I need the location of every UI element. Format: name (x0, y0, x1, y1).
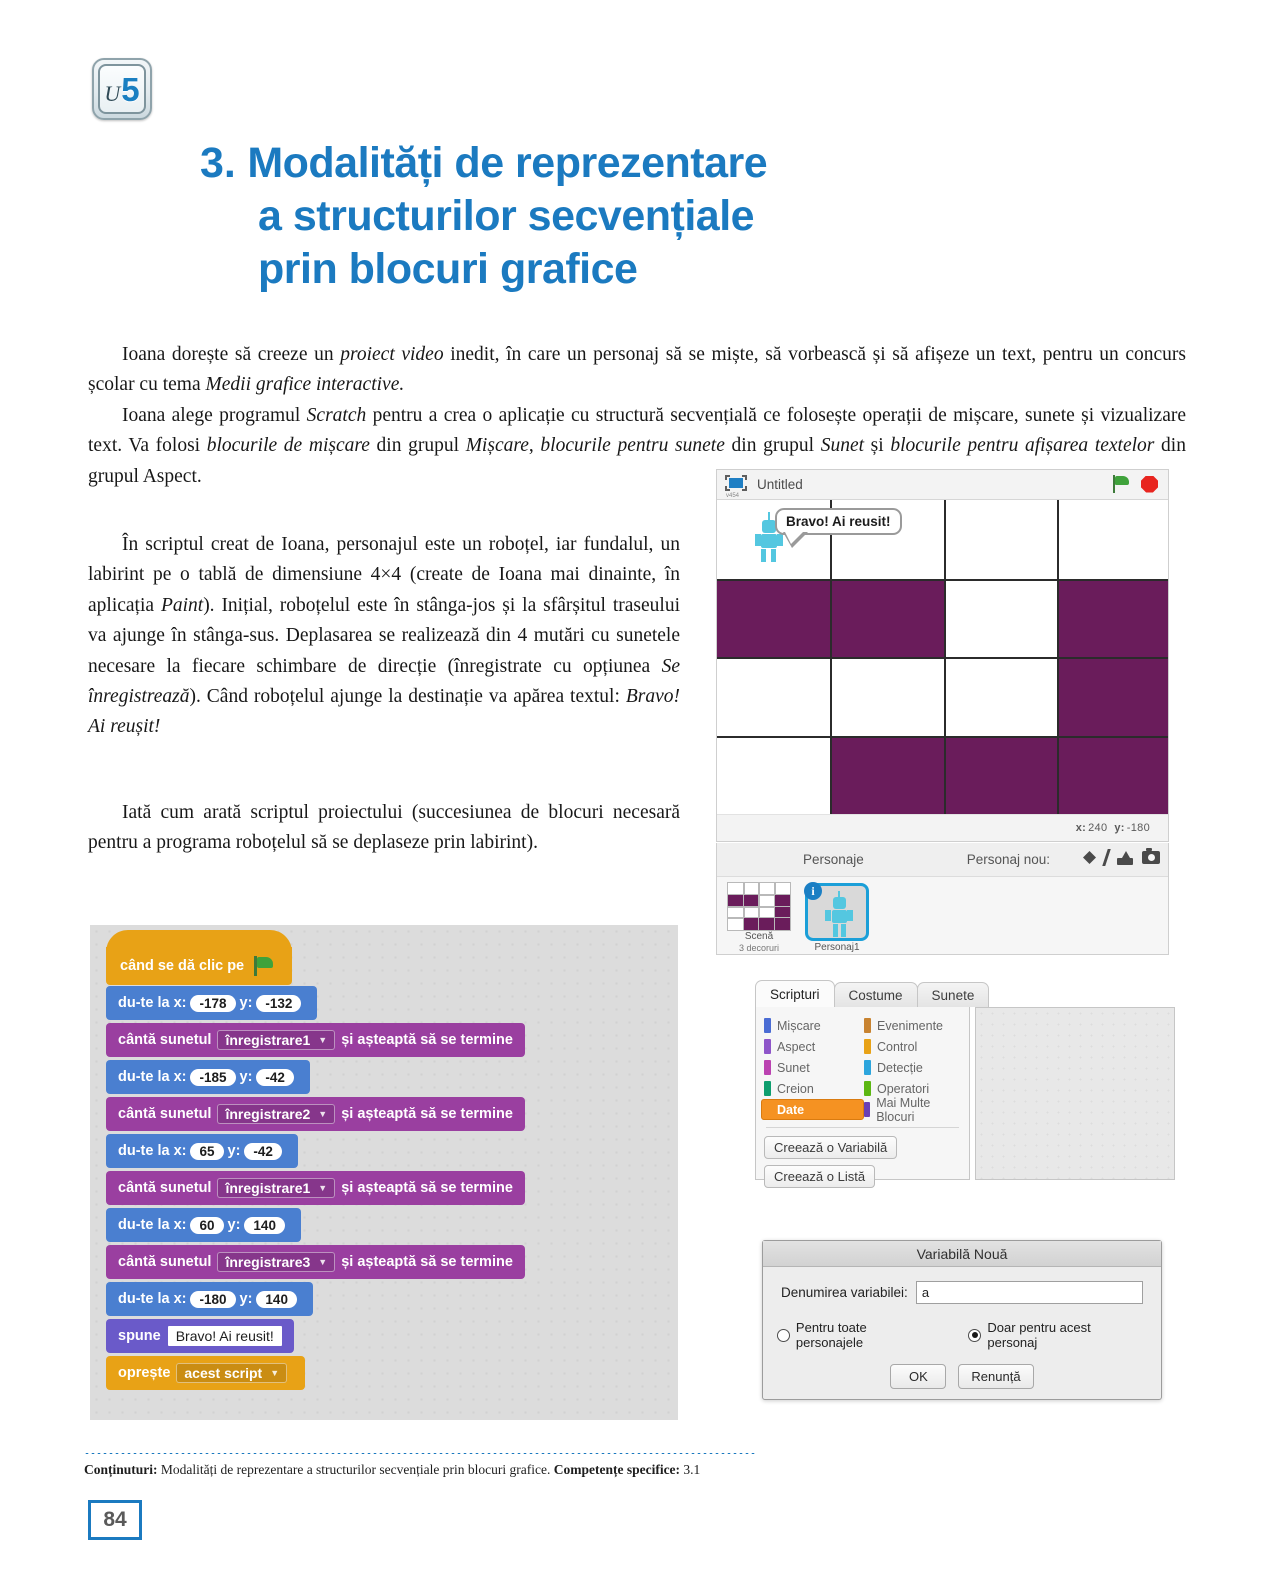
scratch-version-label: v454 (726, 493, 739, 499)
maze-cell (830, 579, 943, 658)
unit-badge-inner: U 5 (98, 64, 146, 114)
maze-cell (944, 500, 1057, 579)
block-label-suffix: și așteaptă să se termine (341, 1106, 513, 1122)
p2-italic-1: Paint (161, 595, 203, 616)
block-label-y: y: (228, 1217, 241, 1233)
maze-cell (830, 657, 943, 736)
category-label: Operatori (877, 1082, 929, 1096)
editor-tabs: ScripturiCostumeSunete (755, 980, 1175, 1007)
maze-cell (1057, 579, 1169, 658)
maze-cell (944, 657, 1057, 736)
maze-cell (717, 657, 830, 736)
new-sprite-icons (1083, 849, 1160, 866)
project-title: Untitled (757, 477, 803, 492)
maze-cell (944, 579, 1057, 658)
palette-category-evenimente[interactable]: Evenimente (864, 1015, 961, 1036)
stage-canvas[interactable]: Bravo! Ai reusit! (717, 500, 1168, 814)
category-label: Creion (777, 1082, 814, 1096)
block-input-x[interactable]: -185 (190, 1069, 235, 1086)
page-title-line3: prin blocuri grafice (258, 243, 1100, 296)
speech-bubble-tail-inner (785, 532, 803, 544)
block-label: du-te la x: (118, 1217, 186, 1233)
script-intro-paragraph: Iată cum arată scriptul proiectului (suc… (88, 798, 680, 859)
category-color-swatch (864, 1060, 871, 1075)
block-label: cântă sunetul (118, 1106, 211, 1122)
block-stop-dropdown[interactable]: acest script▼ (176, 1363, 287, 1383)
maze-thumb-cell (775, 883, 791, 895)
block-label-y: y: (240, 1291, 253, 1307)
sprite-thumbnail-label: Personaj1 (803, 942, 871, 954)
category-label: Date (777, 1103, 804, 1117)
p1-text-h: și (864, 435, 890, 456)
category-label: Control (877, 1040, 917, 1054)
block-label: cântă sunetul (118, 1254, 211, 1270)
footer-text: Conținuturi: Modalități de reprezentare … (84, 1462, 804, 1478)
block-label: du-te la x: (118, 1291, 186, 1307)
stop-sign-icon[interactable] (1141, 476, 1158, 493)
coord-y-label: y: (1114, 822, 1124, 834)
robot-thumb-icon (825, 891, 853, 937)
block-input-y[interactable]: 140 (256, 1291, 297, 1308)
variable-name-input[interactable]: a (916, 1281, 1143, 1304)
page-title-line1: Modalități de reprezentare (247, 139, 767, 187)
maze-thumb-cell (728, 918, 744, 930)
footer-competente-label: Competențe specifice: (554, 1462, 680, 1477)
block-go-to-xy[interactable]: du-te la x:-178y:-132 (106, 986, 317, 1020)
unit-badge: U 5 (92, 58, 152, 120)
block-label: când se dă clic pe (120, 958, 244, 974)
chevron-down-icon: ▼ (318, 1035, 327, 1045)
script-editor-panel: ScripturiCostumeSunete MișcareAspectSune… (755, 980, 1175, 1180)
block-go-to-xy[interactable]: du-te la x:-180y:140 (106, 1282, 313, 1316)
chevron-down-icon: ▼ (318, 1183, 327, 1193)
maze-cell (944, 736, 1057, 815)
radio-this-label: Doar pentru acest personaj (987, 1320, 1143, 1350)
upload-icon[interactable] (1117, 851, 1133, 865)
p1-italic-3: Scratch (307, 405, 367, 426)
maze-thumb-cell (728, 895, 744, 907)
block-categories-left: MișcareAspectSunetCreionDate (764, 1015, 864, 1120)
radio-option-all[interactable]: Pentru toate personajele (777, 1320, 936, 1350)
category-color-swatch (764, 1102, 771, 1117)
tab-costume[interactable]: Costume (834, 982, 918, 1007)
scripts-workspace[interactable] (975, 1007, 1175, 1180)
block-go-to-xy[interactable]: du-te la x:-185y:-42 (106, 1060, 310, 1094)
new-variable-dialog: Variabilă Nouă Denumirea variabilei: a P… (762, 1240, 1162, 1400)
category-label: Mișcare (777, 1019, 821, 1033)
category-color-swatch (764, 1039, 771, 1054)
block-say-input[interactable]: Bravo! Ai reusit! (168, 1326, 282, 1346)
palette-category-detecție[interactable]: Detecție (864, 1057, 961, 1078)
radio-all-label: Pentru toate personajele (796, 1320, 937, 1350)
block-label-suffix: și așteaptă să se termine (341, 1180, 513, 1196)
create-list-button[interactable]: Creează o Listă (764, 1165, 875, 1188)
coord-x-label: x: (1076, 822, 1086, 834)
block-label: spune (118, 1328, 161, 1344)
block-play-sound-until-done[interactable]: cântă sunetulînregistrare2▼și așteaptă s… (106, 1097, 525, 1131)
page-title-number: 3. (200, 139, 236, 187)
chevron-down-icon: ▼ (270, 1368, 279, 1378)
stage-thumbnail-label: Scenă (725, 931, 793, 943)
maze-thumb-cell (744, 895, 760, 907)
coord-x-value: 240 (1088, 822, 1107, 834)
category-label: Sunet (777, 1061, 810, 1075)
category-color-swatch (764, 1081, 771, 1096)
stage-thumbnail-sub: 3 decoruri (725, 943, 793, 953)
block-label-suffix: și așteaptă să se termine (341, 1254, 513, 1270)
palette-category-mișcare[interactable]: Mișcare (764, 1015, 864, 1036)
p1-italic-4: blocurile de mișcare (207, 435, 370, 456)
block-play-sound-until-done[interactable]: cântă sunetulînregistrare1▼și așteaptă s… (106, 1023, 525, 1057)
dialog-title: Variabilă Nouă (763, 1241, 1161, 1267)
category-color-swatch (764, 1060, 771, 1075)
maze-gridline (717, 657, 1169, 659)
block-label-y: y: (240, 995, 253, 1011)
page-title-line2: a structurilor secvențiale (258, 190, 1100, 243)
block-label-y: y: (240, 1069, 253, 1085)
maze-cell (830, 736, 943, 815)
tab-sunete[interactable]: Sunete (917, 982, 990, 1007)
block-say[interactable]: spuneBravo! Ai reusit! (106, 1319, 294, 1353)
variable-name-label: Denumirea variabilei: (781, 1285, 908, 1300)
maze-thumb-cell (775, 895, 791, 907)
maze-thumb-cell (744, 907, 760, 919)
maze-thumb-cell (759, 895, 775, 907)
variable-name-row: Denumirea variabilei: a (763, 1267, 1161, 1304)
block-input-x[interactable]: 65 (190, 1143, 223, 1160)
p1-text-c: Ioana alege programul (122, 405, 307, 426)
sprite-thumbnail-item[interactable]: i Personaj1 (803, 883, 871, 954)
radio-all-circle[interactable] (777, 1329, 790, 1342)
palette-category-sunet[interactable]: Sunet (764, 1057, 864, 1078)
variable-scope-radios: Pentru toate personajele Doar pentru ace… (763, 1304, 1161, 1350)
stage-thumbnail-item[interactable]: Scenă 3 decoruri (725, 883, 793, 954)
block-go-to-xy[interactable]: du-te la x:65y:-42 (106, 1134, 298, 1168)
description-paragraph: În scriptul creat de Ioana, personajul e… (88, 530, 680, 743)
coord-y-value: -180 (1127, 822, 1150, 834)
block-when-flag-clicked[interactable]: când se dă clic pe (106, 947, 292, 985)
unit-badge-number: 5 (121, 73, 139, 106)
p1-text-f: , (529, 435, 541, 456)
page-title: 3. Modalități de reprezentare a structur… (200, 137, 1100, 297)
radio-this-circle[interactable] (968, 1329, 981, 1342)
maze-thumb-cell (728, 883, 744, 895)
sprite-pane-title: Personaje (803, 852, 864, 867)
stage-thumbnail-image (728, 883, 790, 930)
category-label: Detecție (877, 1061, 923, 1075)
block-label: du-te la x: (118, 1069, 186, 1085)
chevron-down-icon: ▼ (318, 1257, 327, 1267)
maze-thumb-cell (775, 918, 791, 930)
block-sound-dropdown[interactable]: înregistrare3▼ (217, 1252, 335, 1272)
block-sound-dropdown[interactable]: înregistrare2▼ (217, 1104, 335, 1124)
sprite-pane-header: Personaje Personaj nou: (717, 843, 1168, 877)
block-sound-dropdown[interactable]: înregistrare1▼ (217, 1178, 335, 1198)
block-input-y[interactable]: -42 (244, 1143, 282, 1160)
script-blocks-canvas: când se dă clic pedu-te la x:-178y:-132c… (90, 925, 678, 1420)
footer-divider (84, 1452, 756, 1455)
maze-thumb-cell (744, 883, 760, 895)
category-label: Evenimente (877, 1019, 943, 1033)
palette-category-creion[interactable]: Creion (764, 1078, 864, 1099)
block-play-sound-until-done[interactable]: cântă sunetulînregistrare3▼și așteaptă s… (106, 1245, 525, 1279)
footer-competente-text: 3.1 (680, 1462, 700, 1477)
block-label: cântă sunetul (118, 1032, 211, 1048)
p1-italic-6: blocurile pentru sunete (540, 435, 724, 456)
block-stop[interactable]: opreșteacest script▼ (106, 1356, 305, 1390)
footer-continut-text: Modalități de reprezentare a structurilo… (158, 1462, 554, 1477)
p1-italic-1: proiect video (340, 344, 443, 365)
p1-text-a: Ioana dorește să creeze un (122, 344, 340, 365)
category-color-swatch (864, 1102, 870, 1117)
stage-controls (1113, 475, 1158, 493)
palette-category-control[interactable]: Control (864, 1036, 961, 1057)
p2-text-c: ). Când roboțelul ajunge la destinație v… (189, 686, 625, 707)
ok-button[interactable]: OK (890, 1364, 946, 1389)
block-input-x[interactable]: -180 (190, 1291, 235, 1308)
sprite-thumbnails: Scenă 3 decoruri i Personaj1 (717, 877, 1168, 960)
block-label: du-te la x: (118, 1143, 186, 1159)
maze-cell (1057, 500, 1169, 579)
speech-bubble: Bravo! Ai reusit! (775, 508, 902, 535)
page-number: 84 (88, 1500, 142, 1540)
maze-cell (717, 736, 830, 815)
maze-cell (717, 579, 830, 658)
radio-option-this[interactable]: Doar pentru acest personaj (968, 1320, 1143, 1350)
palette-category-mai-multe-blocuri[interactable]: Mai Multe Blocuri (864, 1099, 961, 1120)
p1-italic-5: Mișcare (466, 435, 529, 456)
maze-thumb-cell (775, 907, 791, 919)
category-label: Aspect (777, 1040, 815, 1054)
project-screen-icon: v454 (725, 475, 747, 495)
category-color-swatch (864, 1039, 871, 1054)
scratch-stage-panel: v454 Untitled Bravo! Ai reusit! x:240y:-… (716, 469, 1169, 842)
maze-thumb-cell (728, 907, 744, 919)
p1-text-e: din grupul (370, 435, 466, 456)
block-input-x[interactable]: 60 (190, 1217, 223, 1234)
maze-gridline (1057, 500, 1059, 814)
sprite-thumbnail-image[interactable]: i (805, 883, 869, 941)
block-sound-dropdown[interactable]: înregistrare1▼ (217, 1030, 335, 1050)
block-label-y: y: (228, 1143, 241, 1159)
p1-italic-2: Medii grafice interactive. (206, 374, 405, 395)
block-palette: MișcareAspectSunetCreionDate EvenimenteC… (755, 1007, 970, 1180)
coordinate-readout: x:240y:-180 (717, 814, 1168, 842)
camera-icon[interactable] (1142, 851, 1160, 864)
block-input-y[interactable]: 140 (244, 1217, 285, 1234)
block-go-to-xy[interactable]: du-te la x:60y:140 (106, 1208, 301, 1242)
category-color-swatch (864, 1081, 871, 1096)
block-categories: MișcareAspectSunetCreionDate EvenimenteC… (764, 1015, 961, 1120)
block-categories-right: EvenimenteControlDetecțieOperatoriMai Mu… (864, 1015, 961, 1120)
sprite-pane: Personaje Personaj nou: Scenă 3 decoruri… (716, 843, 1169, 955)
block-input-x[interactable]: -178 (190, 995, 235, 1012)
maze-cell (1057, 657, 1169, 736)
block-play-sound-until-done[interactable]: cântă sunetulînregistrare1▼și așteaptă s… (106, 1171, 525, 1205)
tab-scripturi[interactable]: Scripturi (755, 980, 835, 1007)
stage-toolbar: v454 Untitled (717, 470, 1168, 500)
footer-continut-label: Conținuturi: (84, 1462, 158, 1477)
block-label: oprește (118, 1365, 170, 1381)
create-variable-button[interactable]: Creează o Variabilă (764, 1136, 897, 1159)
block-label: cântă sunetul (118, 1180, 211, 1196)
block-label: du-te la x: (118, 995, 186, 1011)
maze-thumb-cell (759, 907, 775, 919)
p1-italic-7: Sunet (821, 435, 864, 456)
maze-thumb-cell (744, 918, 760, 930)
palette-category-aspect[interactable]: Aspect (764, 1036, 864, 1057)
block-label-suffix: și așteaptă să se termine (341, 1032, 513, 1048)
maze-thumb-cell (759, 883, 775, 895)
p3-text: Iată cum arată scriptul proiectului (suc… (88, 802, 680, 853)
chevron-down-icon: ▼ (318, 1109, 327, 1119)
maze-gridline (717, 736, 1169, 738)
p1-text-g: din grupul (725, 435, 821, 456)
green-flag-icon (252, 956, 274, 976)
slash-icon[interactable] (1102, 849, 1111, 866)
new-sprite-label: Personaj nou: (967, 852, 1050, 867)
p1-italic-8: blocurile pentru afișarea textelor (890, 435, 1154, 456)
info-badge[interactable]: i (804, 882, 822, 900)
palette-divider (766, 1127, 959, 1128)
paintbrush-icon[interactable] (1083, 851, 1096, 864)
maze-cell (1057, 736, 1169, 815)
unit-badge-prefix: U (104, 83, 120, 105)
category-color-swatch (864, 1018, 871, 1033)
dialog-buttons: OK Renunță (763, 1364, 1161, 1389)
palette-category-date[interactable]: Date (761, 1099, 864, 1120)
category-color-swatch (764, 1018, 771, 1033)
category-label: Mai Multe Blocuri (876, 1096, 961, 1124)
block-input-y[interactable]: -42 (256, 1069, 294, 1086)
block-input-y[interactable]: -132 (256, 995, 301, 1012)
maze-thumb-cell (759, 918, 775, 930)
green-flag-icon[interactable] (1113, 475, 1130, 493)
speech-bubble-text: Bravo! Ai reusit! (786, 514, 891, 529)
cancel-button[interactable]: Renunță (958, 1364, 1033, 1389)
